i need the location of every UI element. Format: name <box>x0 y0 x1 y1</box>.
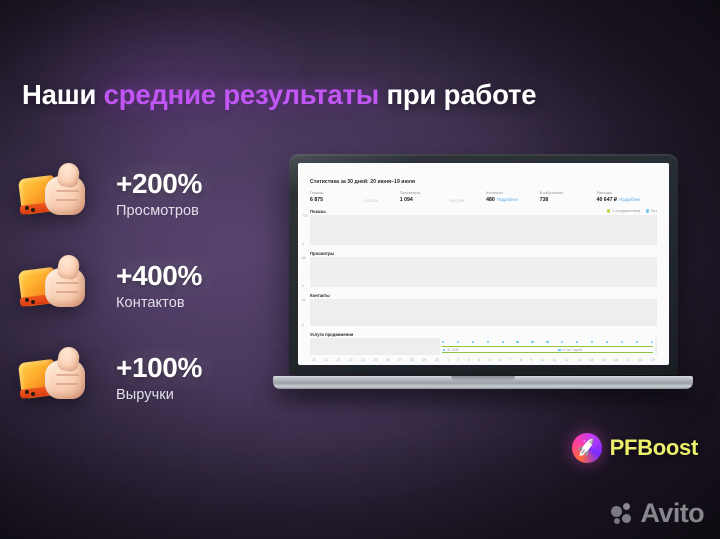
y-tick-max: 724 <box>302 214 308 218</box>
axis-day: 25 <box>373 358 377 362</box>
axis-month-label: Июнь <box>379 364 387 365</box>
metric-views: Просмотры 1 094 <box>400 191 448 203</box>
metrics-row: Показы 6 875 ↑ 15,31% Просмотры 1 094 ↑ … <box>310 191 657 203</box>
axis-day: 17 <box>626 358 630 362</box>
axis-day: 13 <box>577 358 581 362</box>
axis-day: 22 <box>337 358 341 362</box>
promotion-marker <box>621 341 623 343</box>
axis-day: 4 <box>478 358 480 362</box>
metric-expenses: Расходы 40 647 ₽Подробнее <box>597 191 657 203</box>
axis-day: 12 <box>565 358 569 362</box>
promotion-marker <box>606 341 608 343</box>
metric-shows: Показы 6 875 <box>310 191 362 203</box>
avito-name: Avito <box>641 498 705 529</box>
axis-day: 18 <box>639 358 643 362</box>
stat-label: Просмотров <box>116 203 202 219</box>
promotion-marker <box>561 341 563 343</box>
axis-day: 11 <box>553 358 557 362</box>
metric-value: 480Подробнее <box>486 197 540 203</box>
metric-favorites: В избранном 738 <box>540 191 597 203</box>
axis-day-labels: 2021222324252627282930123456789101112131… <box>310 358 657 362</box>
axis-day: 23 <box>349 358 353 362</box>
metric-details-link[interactable]: Подробнее <box>497 197 518 202</box>
brand-name: PFBoost <box>610 435 698 461</box>
promotion-marker <box>502 341 504 343</box>
avito-dots-icon <box>611 503 635 525</box>
dashboard-screen: Статистика за 30 дней: 20 июня–19 июля П… <box>298 163 669 365</box>
laptop-lid: Статистика за 30 дней: 20 июня–19 июля П… <box>289 154 678 375</box>
stat-item: +200% Просмотров <box>14 163 202 225</box>
brand-logo: 🚀 PFBoost <box>572 433 698 463</box>
promotion-marker <box>591 341 593 343</box>
metric-label: Показы <box>310 191 362 196</box>
axis-day: 30 <box>435 358 439 362</box>
thumbs-up-icon <box>14 347 90 409</box>
metric-number: 40 647 ₽ <box>597 197 618 203</box>
axis-day: 14 <box>589 358 593 362</box>
legend-item-promoted: С продвижением <box>607 209 640 213</box>
chart-plot-contacts: 40 0 <box>310 299 657 326</box>
promotion-marker <box>546 341 548 343</box>
chart-legend: С продвижением Без <box>607 209 657 213</box>
stat-label: Выручки <box>116 387 202 403</box>
promotion-marker <box>472 341 474 343</box>
chart-block-promotion: Услуги продвижения XL 5/30 х7 на 7 дней <box>310 332 657 356</box>
metric-contacts: Контакты 480Подробнее <box>486 191 540 203</box>
axis-day: 19 <box>651 358 655 362</box>
laptop-mockup: Статистика за 30 дней: 20 июня–19 июля П… <box>289 154 678 389</box>
thumbs-up-icon <box>14 255 90 317</box>
promotion-tag: XL 5/30 <box>443 348 459 352</box>
promotion-marker <box>531 341 533 343</box>
axis-day: 5 <box>489 358 491 362</box>
avito-watermark: Avito <box>611 498 705 529</box>
promotion-marker <box>442 341 444 343</box>
metric-value: 6 875 <box>310 197 362 203</box>
legend-item-organic: Без <box>646 209 657 213</box>
dashboard-title: Статистика за 30 дней: 20 июня–19 июля <box>310 179 657 185</box>
axis-day: 7 <box>509 358 511 362</box>
chart-bars <box>442 215 657 245</box>
stat-item: +100% Выручки <box>14 347 202 409</box>
axis-day: 16 <box>614 358 618 362</box>
chart-block-contacts: Контакты 40 0 <box>310 293 657 327</box>
axis-day: 28 <box>410 358 414 362</box>
thumbs-up-icon <box>14 163 90 225</box>
stat-percent: +100% <box>116 353 202 382</box>
promotion-plot: XL 5/30 х7 на 7 дней <box>310 338 657 355</box>
laptop-base <box>273 376 693 389</box>
promotion-line-1 <box>442 346 653 347</box>
chart-x-axis: 2021222324252627282930123456789101112131… <box>310 358 657 365</box>
axis-day: 26 <box>386 358 390 362</box>
page-title: Наши средние результаты при работе <box>22 79 536 111</box>
chart-block-shows: Показы С продвижением Без 724 0 <box>310 209 657 246</box>
promotion-line-2 <box>442 352 653 353</box>
axis-day: 15 <box>602 358 606 362</box>
y-tick-max: 86 <box>302 256 306 260</box>
promotion-marker <box>636 341 638 343</box>
chart-bars <box>442 299 657 326</box>
metric-number: 480 <box>486 197 495 203</box>
axis-day: 2 <box>457 358 459 362</box>
chart-plot-shows: 724 0 <box>310 215 657 245</box>
axis-day: 27 <box>398 358 402 362</box>
promotion-marker <box>516 341 518 343</box>
rocket-icon: 🚀 <box>572 433 602 463</box>
axis-day: 9 <box>530 358 532 362</box>
laptop-notch <box>451 376 515 381</box>
stat-percent: +400% <box>116 261 202 290</box>
axis-day: 10 <box>541 358 545 362</box>
promotion-marker <box>651 341 653 343</box>
y-tick-max: 40 <box>302 298 306 302</box>
chart-title: Услуги продвижения <box>310 332 657 337</box>
y-tick-min: 0 <box>302 284 304 288</box>
stat-label: Контактов <box>116 295 202 311</box>
metric-delta: ↑ 15,31% <box>362 198 400 203</box>
chart-plot-views: 86 0 <box>310 257 657 287</box>
axis-day: 1 <box>447 358 449 362</box>
axis-day: 29 <box>423 358 427 362</box>
metric-label: Просмотры <box>400 191 448 196</box>
metric-details-link[interactable]: Подробнее <box>619 197 640 202</box>
axis-day: 6 <box>499 358 501 362</box>
stat-percent: +200% <box>116 169 202 198</box>
chart-title: Контакты <box>310 293 330 298</box>
metric-value: 738 <box>540 197 597 203</box>
axis-day: 3 <box>468 358 470 362</box>
chart-bars <box>442 257 657 287</box>
axis-day: 20 <box>312 358 316 362</box>
promotion-marker <box>457 341 459 343</box>
metric-label: Расходы <box>597 191 657 196</box>
axis-day: 21 <box>324 358 328 362</box>
headline-part1: Наши <box>22 79 104 110</box>
metric-delta: ↑ 42,35% <box>448 198 486 203</box>
chart-block-views: Просмотры 86 0 <box>310 251 657 288</box>
promotion-markers <box>440 341 655 343</box>
metric-value: 1 094 <box>400 197 448 203</box>
axis-month-label: Июль <box>539 364 547 365</box>
metric-value: 40 647 ₽Подробнее <box>597 197 657 203</box>
promotion-marker <box>576 341 578 343</box>
headline-highlight: средние результаты <box>104 79 379 110</box>
chart-title: Показы <box>310 209 326 214</box>
axis-day: 8 <box>520 358 522 362</box>
chart-title: Просмотры <box>310 251 334 256</box>
stat-item: +400% Контактов <box>14 255 202 317</box>
promotion-tag: х7 на 7 дней <box>558 348 582 352</box>
y-tick-min: 0 <box>302 323 304 327</box>
y-tick-min: 0 <box>302 242 304 246</box>
axis-day: 24 <box>361 358 365 362</box>
headline-part2: при работе <box>379 79 536 110</box>
metric-label: Контакты <box>486 191 540 196</box>
metric-label: В избранном <box>540 191 597 196</box>
promotion-marker <box>487 341 489 343</box>
